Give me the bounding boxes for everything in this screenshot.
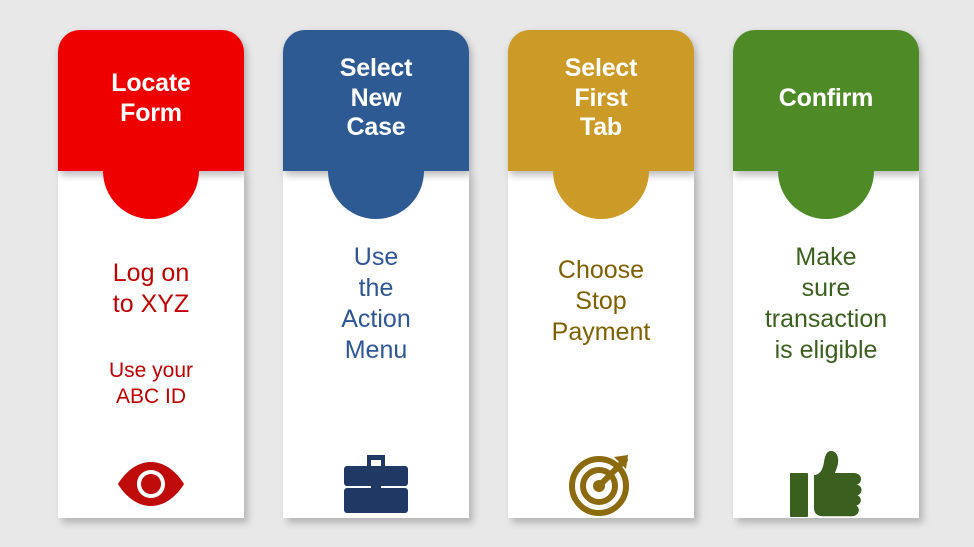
process-infographic-board: Locate Form Log on to XYZ Use your ABC I…	[0, 0, 974, 547]
target-arrow-icon	[508, 448, 694, 520]
card-body-secondary-1: Use your ABC ID	[58, 358, 244, 411]
card-header-label-1: Locate Form	[111, 69, 190, 132]
process-card-1[interactable]: Locate Form Log on to XYZ Use your ABC I…	[58, 30, 244, 518]
card-header-4[interactable]: Confirm	[733, 30, 919, 171]
process-card-4[interactable]: Confirm Make sure transaction is eligibl…	[733, 30, 919, 518]
card-body-primary-1: Log on to XYZ	[58, 258, 244, 320]
card-header-label-3: Select First Tab	[565, 54, 637, 147]
card-header-1[interactable]: Locate Form	[58, 30, 244, 171]
card-header-2[interactable]: Select New Case	[283, 30, 469, 171]
card-header-3[interactable]: Select First Tab	[508, 30, 694, 171]
card-body-primary-2: Use the Action Menu	[283, 242, 469, 366]
thumbs-up-icon	[733, 448, 919, 520]
process-card-3[interactable]: Select First Tab Choose Stop Payment	[508, 30, 694, 518]
card-body-primary-3: Choose Stop Payment	[508, 255, 694, 348]
briefcase-icon	[283, 448, 469, 520]
process-card-2[interactable]: Select New Case Use the Action Menu	[283, 30, 469, 518]
card-body-primary-4: Make sure transaction is eligible	[733, 242, 919, 366]
eye-icon	[58, 448, 244, 520]
card-header-label-4: Confirm	[779, 84, 873, 118]
card-header-label-2: Select New Case	[340, 54, 412, 147]
